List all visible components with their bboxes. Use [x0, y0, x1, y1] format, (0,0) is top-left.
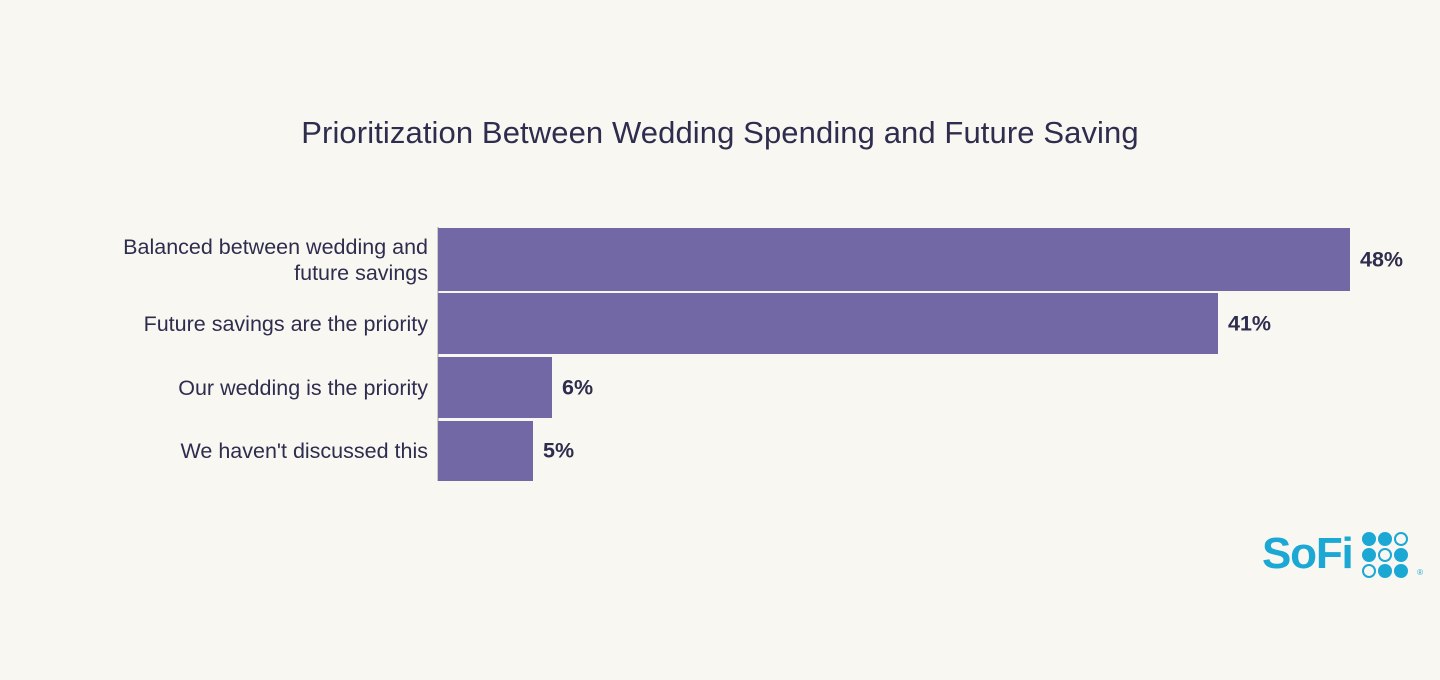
plot-area: Balanced between wedding and future savi… [0, 0, 1440, 680]
bar-row: Future savings are the priority 41% [0, 293, 1440, 354]
bar-balanced-between-wedding-and-future-savings[interactable] [438, 228, 1350, 291]
category-label-line: Balanced between wedding and [123, 234, 428, 258]
logo-dot [1362, 532, 1376, 546]
category-label: Our wedding is the priority [8, 374, 428, 400]
bar-row: We haven't discussed this 5% [0, 421, 1440, 481]
bar-value-label: 6% [562, 375, 593, 400]
logo-dot [1362, 564, 1376, 578]
chart-container: Prioritization Between Wedding Spending … [0, 0, 1440, 680]
bar-future-savings-are-the-priority[interactable] [438, 293, 1218, 354]
bar-value-label: 5% [543, 439, 574, 464]
bar-row: Balanced between wedding and future savi… [0, 228, 1440, 291]
bar-value-label: 41% [1228, 311, 1271, 336]
logo-dot [1394, 564, 1408, 578]
bar-value-label: 48% [1360, 247, 1403, 272]
logo-dot [1378, 532, 1392, 546]
trademark-symbol: ® [1417, 568, 1423, 577]
logo-dot [1378, 548, 1392, 562]
logo-dot [1378, 564, 1392, 578]
category-label: Future savings are the priority [8, 310, 428, 336]
bar-row: Our wedding is the priority 6% [0, 357, 1440, 418]
sofi-logo: SoFi ® [1262, 528, 1422, 580]
category-label: Balanced between wedding and future savi… [8, 233, 428, 285]
category-label-line: Our wedding is the priority [178, 375, 428, 399]
category-label-line: Future savings are the priority [144, 311, 428, 335]
bar-our-wedding-is-the-priority[interactable] [438, 357, 552, 418]
sofi-wordmark: SoFi [1262, 532, 1353, 576]
logo-dot [1394, 532, 1408, 546]
sofi-dot-grid-icon [1362, 532, 1408, 578]
bar-we-havent-discussed-this[interactable] [438, 421, 533, 481]
logo-dot [1362, 548, 1376, 562]
logo-dot [1394, 548, 1408, 562]
category-label-line: We haven't discussed this [180, 439, 428, 463]
category-label: We haven't discussed this [8, 438, 428, 464]
category-label-line: future savings [294, 261, 428, 285]
